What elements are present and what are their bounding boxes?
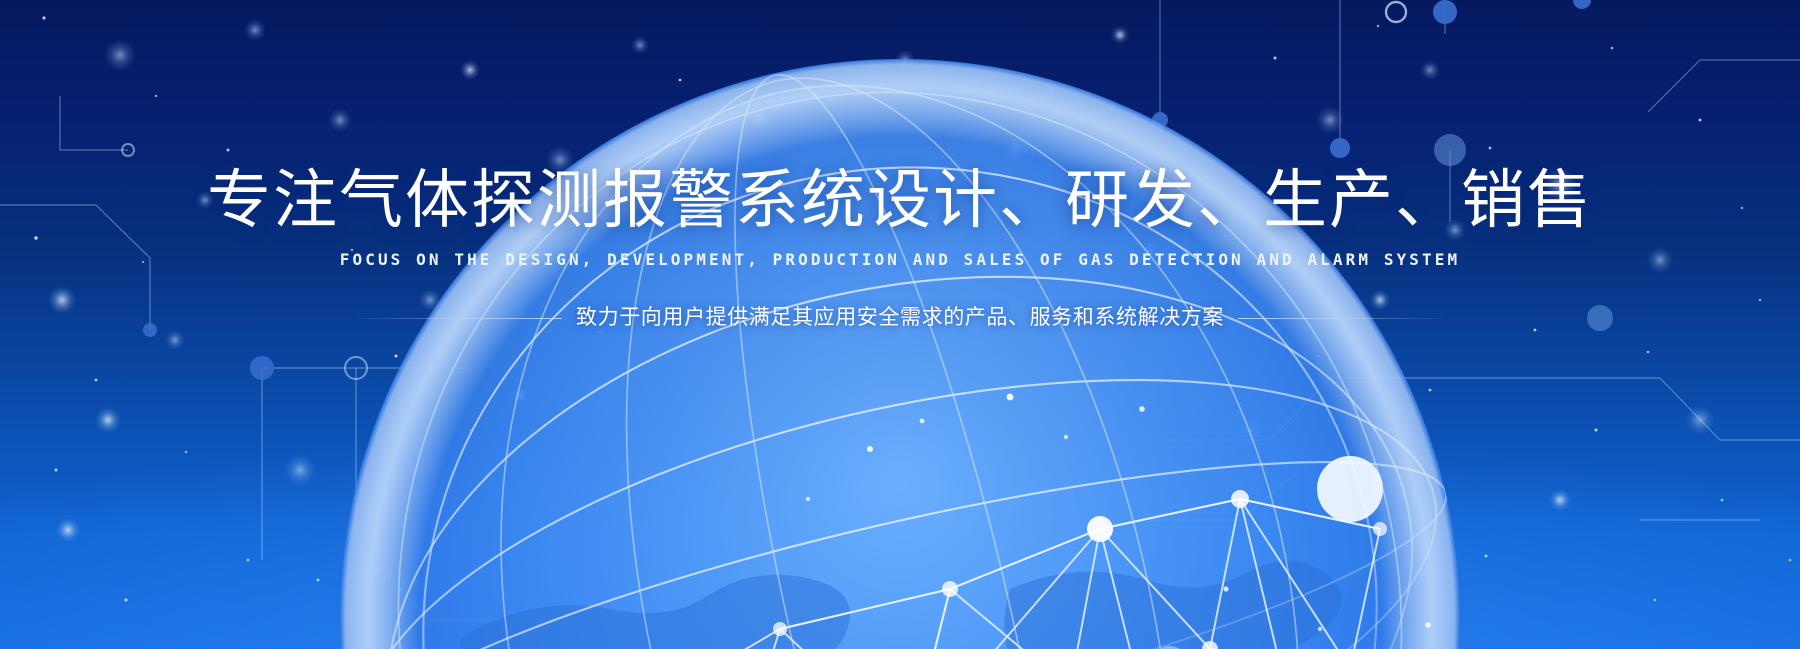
banner-tagline: 致力于向用户提供满足其应用安全需求的产品、服务和系统解决方案 (576, 305, 1224, 331)
divider-rule-left (357, 318, 562, 319)
banner-headline: 专注气体探测报警系统设计、研发、生产、销售 (0, 163, 1800, 237)
banner-subheadline-english: FOCUS ON THE DESIGN, DEVELOPMENT, PRODUC… (0, 249, 1800, 271)
hero-banner: 专注气体探测报警系统设计、研发、生产、销售 FOCUS ON THE DESIG… (0, 0, 1800, 649)
divider-rule-right (1238, 318, 1443, 319)
banner-tagline-row: 致力于向用户提供满足其应用安全需求的产品、服务和系统解决方案 (0, 305, 1800, 331)
banner-content: 专注气体探测报警系统设计、研发、生产、销售 FOCUS ON THE DESIG… (0, 0, 1800, 331)
